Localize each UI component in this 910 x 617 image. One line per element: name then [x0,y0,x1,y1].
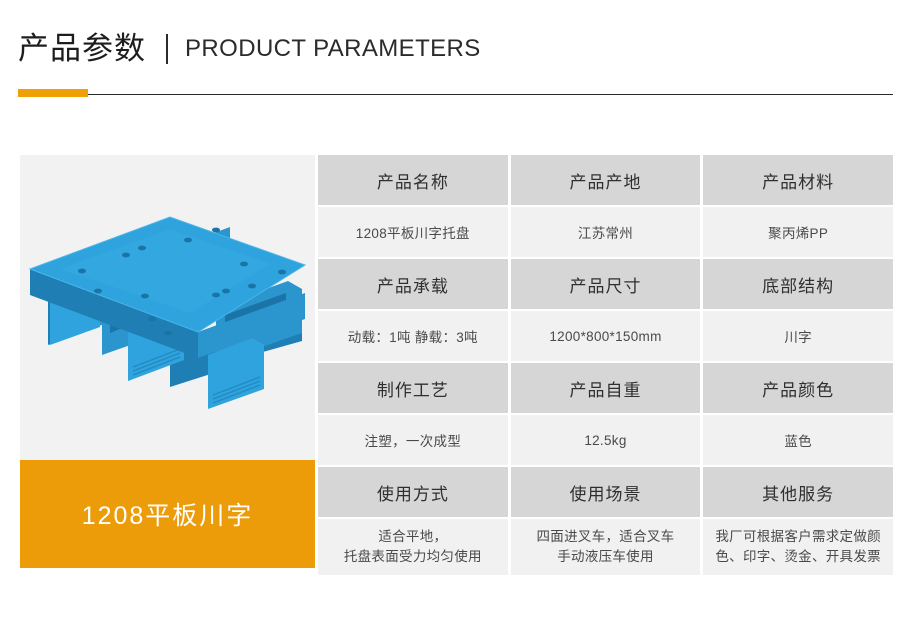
page-title-en: PRODUCT PARAMETERS [185,37,481,61]
table-value-cell: 江苏常州 [511,207,701,257]
spec-table: 产品名称 产品产地 产品材料 1208平板川字托盘 江苏常州 聚丙烯PP 产品承… [318,155,893,575]
table-header-cell: 产品尺寸 [511,259,701,309]
table-value-line: 色、印字、烫金、开具发票 [715,547,881,567]
table-header-cell: 制作工艺 [318,363,508,413]
table-value-cell: 1200*800*150mm [511,311,701,361]
product-caption: 1208平板川字 [20,460,315,568]
table-header-cell: 其他服务 [703,467,893,517]
table-value-cell: 四面进叉车，适合叉车 手动液压车使用 [511,519,701,575]
content-area: 1208平板川字 产品名称 产品产地 产品材料 1208平板川字托盘 江苏常州 … [0,140,910,580]
table-value-line: 托盘表面受力均匀使用 [344,547,482,567]
table-header-cell: 产品颜色 [703,363,893,413]
page-title-cn: 产品参数 [18,33,146,64]
table-header-cell: 使用方式 [318,467,508,517]
product-image-panel: 1208平板川字 [20,155,315,568]
table-value-cell: 动载：1吨 静载：3吨 [318,311,508,361]
title-separator [166,34,168,64]
table-value-line: 四面进叉车，适合叉车 [536,527,674,547]
table-header-cell: 产品自重 [511,363,701,413]
table-header-cell: 使用场景 [511,467,701,517]
page-header: 产品参数 PRODUCT PARAMETERS [0,0,910,110]
table-header-cell: 产品名称 [318,155,508,205]
table-value-cell: 蓝色 [703,415,893,465]
table-value-cell: 川字 [703,311,893,361]
table-header-cell: 产品产地 [511,155,701,205]
table-value-cell: 注塑，一次成型 [318,415,508,465]
table-value-cell: 聚丙烯PP [703,207,893,257]
product-caption-text: 1208平板川字 [82,496,254,532]
header-divider-accent [18,89,88,97]
table-value-cell: 12.5kg [511,415,701,465]
page-title: 产品参数 PRODUCT PARAMETERS [18,33,481,64]
table-value-line: 手动液压车使用 [557,547,654,567]
header-divider [18,94,893,95]
table-value-cell: 适合平地， 托盘表面受力均匀使用 [318,519,508,575]
table-value-cell: 我厂可根据客户需求定做颜 色、印字、烫金、开具发票 [703,519,893,575]
table-value-cell: 1208平板川字托盘 [318,207,508,257]
table-value-line: 适合平地， [378,527,447,547]
pallet-photo [20,155,315,460]
table-header-cell: 底部结构 [703,259,893,309]
table-header-cell: 产品承载 [318,259,508,309]
table-header-cell: 产品材料 [703,155,893,205]
table-value-line: 我厂可根据客户需求定做颜 [715,527,881,547]
